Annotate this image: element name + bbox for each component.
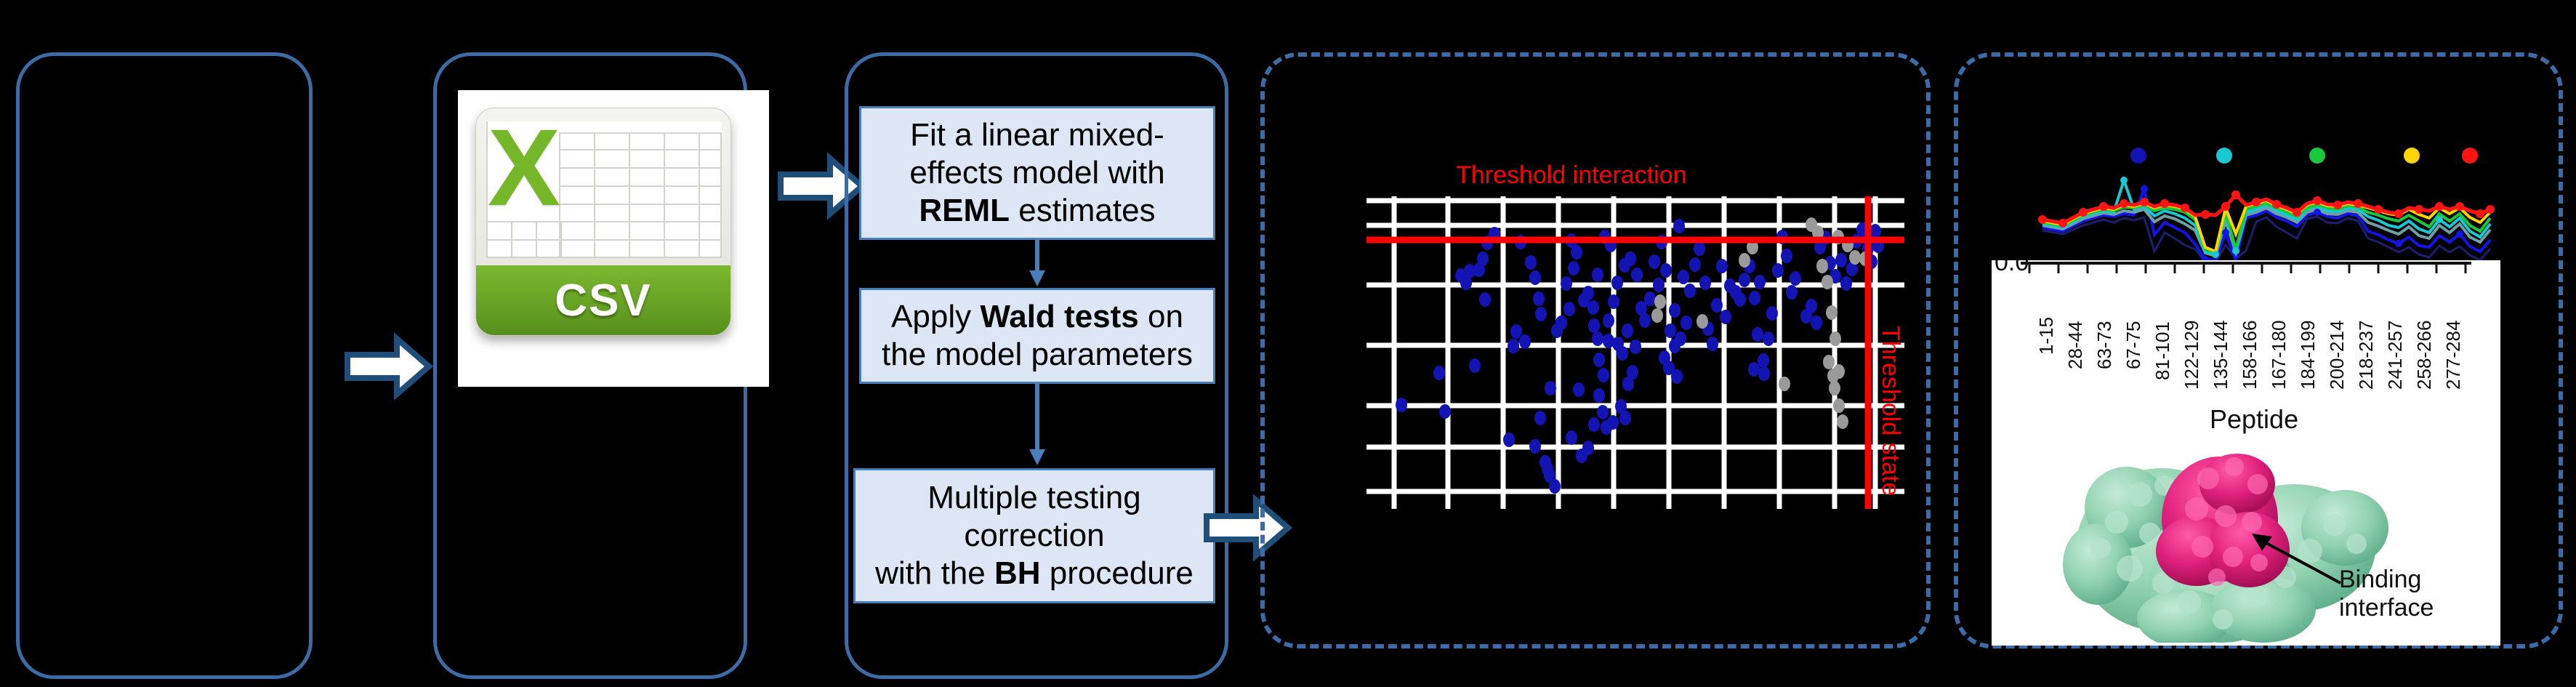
excel-x-glyph: X (488, 113, 560, 222)
peptide-tick-0: 1-15 (2035, 317, 2058, 355)
scatter-points-significant (1396, 219, 1884, 494)
peptide-tick-13: 258-266 (2413, 321, 2436, 390)
step-wald-tests-text: Apply Wald tests onthe model parameters (882, 298, 1193, 374)
csv-file-icon: X CSV (475, 108, 731, 336)
peptide-chart-legend (2130, 148, 2478, 164)
csv-file-card: X CSV (458, 90, 769, 387)
csv-label: CSV (555, 275, 651, 326)
arrow-into-input (345, 333, 432, 400)
connector-step1-step2 (1025, 240, 1050, 288)
binding-interface-line1: Binding (2339, 566, 2434, 594)
step-wald-tests[interactable]: Apply Wald tests onthe model parameters (859, 288, 1215, 384)
peptide-y-axis-value: 0.0 (1995, 260, 2029, 277)
peptide-tick-8: 167-180 (2268, 321, 2290, 390)
binding-interface-label: Binding interface (2339, 566, 2434, 623)
legend-dot-1 (2130, 148, 2146, 164)
peptide-results-card: 0.0 1-15 28-44 63-73 67-75 81-101 122-12… (1992, 260, 2500, 646)
scatter-plot (1367, 196, 1904, 509)
step-multiple-testing[interactable]: Multiple testingcorrectionwith the BH pr… (853, 468, 1215, 603)
panel-input (16, 52, 313, 679)
peptide-tick-4: 81-101 (2152, 321, 2174, 380)
step-multiple-testing-text: Multiple testingcorrectionwith the BH pr… (875, 479, 1194, 592)
legend-dot-3 (2309, 148, 2325, 164)
scatter-plot-svg (1367, 196, 1904, 509)
flowchart-canvas: X CSV Fit a linear mixed-effects model w… (0, 0, 2576, 687)
peptide-tick-9: 184-199 (2297, 321, 2319, 390)
step-fit-model[interactable]: Fit a linear mixed-effects model withREM… (859, 106, 1215, 240)
peptide-x-axis (2021, 260, 2471, 276)
legend-dot-2 (2216, 148, 2232, 164)
peptide-line-chart-svg (2028, 145, 2566, 265)
peptide-x-axis-label: Peptide (2210, 404, 2298, 435)
peptide-tick-14: 277-284 (2442, 321, 2465, 390)
legend-dot-4 (2404, 148, 2420, 164)
csv-label-band: CSV (476, 265, 730, 335)
threshold-state-label: Threshold state (1876, 326, 1904, 496)
peptide-tick-7: 158-166 (2239, 321, 2261, 390)
peptide-tick-10: 200-214 (2326, 321, 2348, 390)
peptide-tick-5: 122-129 (2181, 321, 2203, 390)
peptide-tick-12: 241-257 (2384, 321, 2407, 390)
peptide-tick-2: 63-73 (2093, 321, 2116, 370)
binding-interface-line2: interface (2339, 594, 2434, 622)
peptide-tick-11: 218-237 (2355, 321, 2378, 390)
threshold-interaction-label: Threshold interaction (1456, 161, 1687, 190)
step-fit-model-text: Fit a linear mixed-effects model withREM… (909, 116, 1164, 230)
peptide-tick-1: 28-44 (2064, 321, 2087, 370)
peptide-tick-6: 135-144 (2210, 321, 2232, 390)
legend-dot-5 (2462, 148, 2478, 164)
peptide-tick-3: 67-75 (2122, 321, 2145, 370)
connector-step2-step3 (1025, 384, 1050, 467)
peptide-line-chart (2028, 145, 2566, 265)
